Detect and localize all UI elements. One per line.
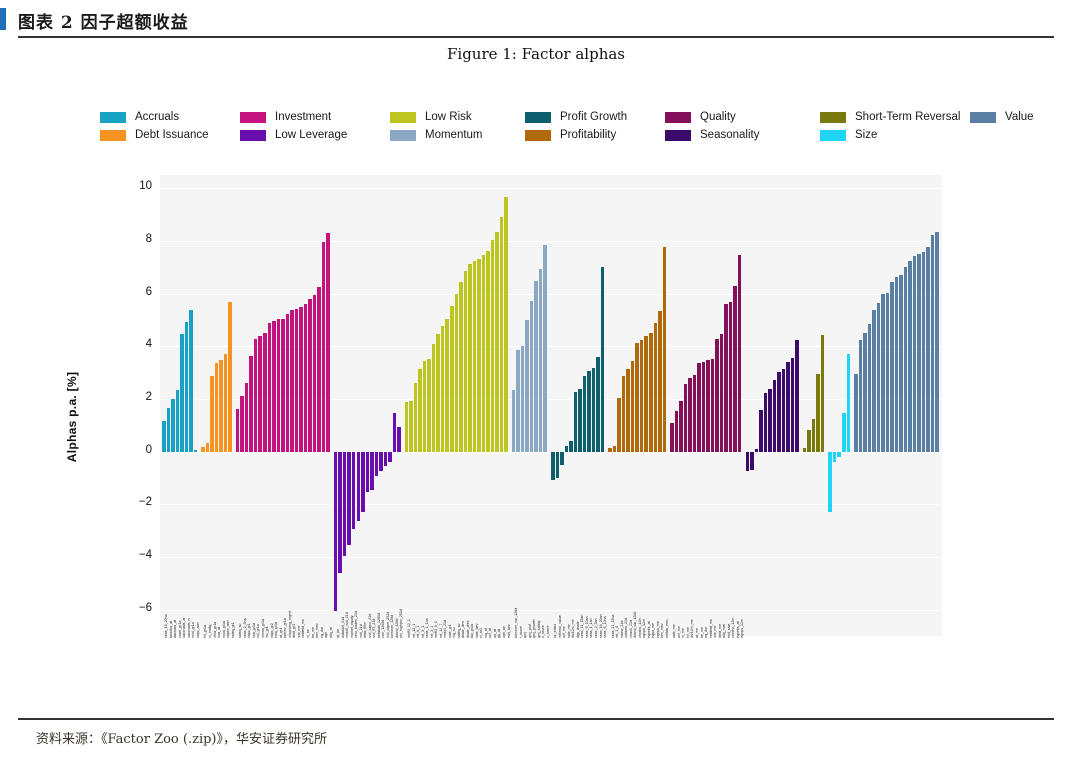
bar: [733, 286, 737, 451]
bar: [236, 409, 240, 452]
legend-swatch-icon: [240, 112, 266, 123]
gridline: [160, 610, 942, 611]
legend-row-bottom: Debt IssuanceLow LeverageMomentumProfita…: [100, 126, 1000, 144]
bar: [432, 344, 436, 451]
x-axis-tick-label: netdebt_me: [709, 619, 713, 638]
report-title: 图表 2 因子超额收益: [18, 8, 189, 33]
x-axis-tick-label: ni_ar1: [479, 628, 483, 638]
bar: [254, 339, 258, 452]
x-axis-tick-label: ocf_me: [562, 626, 566, 638]
x-axis-tick-label: bev_mev: [315, 623, 319, 638]
bar: [521, 346, 525, 452]
bar: [816, 374, 820, 452]
bar: [171, 399, 175, 451]
bar: [715, 339, 719, 452]
x-axis-tick-label: noa_at: [217, 627, 221, 638]
x-axis-tick-label: dolvol_var_126d: [633, 612, 637, 638]
bar: [922, 252, 926, 452]
y-axis-tick-label: 10: [112, 180, 152, 192]
bar: [491, 240, 495, 452]
bar: [445, 319, 449, 452]
x-axis-tick-label: kz_index: [553, 624, 557, 638]
gridline: [160, 294, 942, 295]
bar: [872, 310, 876, 452]
bar: [782, 369, 786, 451]
x-axis-tick-label: seas_16_20an: [599, 614, 603, 638]
x-axis-tick-label: zero_trades_21d: [354, 611, 358, 638]
bar: [516, 350, 520, 451]
bar: [917, 254, 921, 452]
legend-item-label: Short-Term Reversal: [855, 111, 960, 123]
legend-item-profitability[interactable]: Profitability: [525, 126, 616, 144]
bar: [596, 357, 600, 451]
bar: [697, 363, 701, 452]
bar: [176, 390, 180, 452]
bar: [622, 376, 626, 452]
bar: [886, 293, 890, 452]
x-axis-tick-label: beta_60m: [363, 622, 367, 638]
bar: [658, 311, 662, 451]
bar: [441, 326, 445, 452]
y-axis-label: Alphas p.a. [%]: [65, 337, 79, 497]
x-axis-tick-label: netdebt_me: [301, 619, 305, 638]
x-axis-tick-label: eq_dur: [704, 627, 708, 638]
bar: [863, 333, 867, 452]
x-axis-tick-label: tax_gr1a: [470, 624, 474, 638]
bar: [313, 295, 317, 452]
bar: [777, 372, 781, 452]
bar: [859, 340, 863, 451]
bar: [759, 410, 763, 452]
legend-item-value[interactable]: Value: [970, 108, 1034, 126]
bar: [913, 256, 917, 451]
legend-item-label: Seasonality: [700, 129, 759, 141]
bar: [768, 389, 772, 452]
bar: [162, 421, 166, 451]
bar: [626, 369, 630, 451]
x-axis-tick-label: eqnpo_12m: [740, 619, 744, 638]
bar: [812, 419, 816, 452]
bar: [352, 452, 356, 529]
bar: [592, 368, 596, 452]
x-axis-tick-label: ocf_at: [488, 628, 492, 638]
bar: [750, 452, 754, 470]
bar: [539, 269, 543, 452]
x-axis-tick-label: seas_6_10na: [603, 616, 607, 638]
x-axis-tick-label: nfna_gr1a: [213, 622, 217, 638]
bar: [525, 320, 529, 451]
legend-swatch-icon: [665, 112, 691, 123]
bar: [684, 384, 688, 451]
legend-row-top: AccrualsInvestmentLow RiskProfit GrowthQ…: [100, 108, 1000, 126]
legend-swatch-icon: [525, 112, 551, 123]
bar: [854, 374, 858, 452]
bar: [693, 375, 697, 452]
x-axis-tick-label: z_score: [546, 625, 550, 638]
bar: [427, 359, 431, 452]
bar: [755, 449, 759, 451]
bar: [706, 360, 710, 452]
bar: [263, 333, 267, 452]
bar: [729, 302, 733, 452]
bar: [361, 452, 365, 512]
x-axis-tick-label: eq_dur: [320, 627, 324, 638]
bar: [679, 401, 683, 452]
x-axis-tick-label: debt_me: [718, 624, 722, 638]
x-axis-tick-label: turnover_126d: [390, 615, 394, 638]
bar: [583, 376, 587, 452]
bar: [338, 452, 342, 574]
bar: [574, 392, 578, 451]
x-axis-tick-label: f_score: [519, 626, 523, 638]
bar: [240, 396, 244, 452]
bar: [418, 369, 422, 451]
bar: [644, 336, 648, 451]
y-axis-tick-label: 6: [112, 286, 152, 298]
bar: [649, 333, 653, 452]
bar: [551, 452, 555, 480]
x-axis-tick-label: qmj_growth: [532, 619, 536, 638]
bar: [587, 371, 591, 451]
chart-container: Alphas p.a. [%] −6−4−20246810 seas_16_20…: [0, 160, 1072, 660]
x-axis-tick-label: be_me: [311, 627, 315, 638]
bar: [565, 446, 569, 452]
report-header: 图表 2 因子超额收益: [0, 0, 1072, 42]
x-axis-tick-label: at_me: [695, 628, 699, 638]
bar: [436, 334, 440, 451]
bar: [556, 452, 560, 479]
x-axis-tick-label: ival_me: [713, 626, 717, 638]
bar: [393, 413, 397, 451]
x-axis-tick-label: ni_be: [306, 629, 310, 638]
bar: [414, 383, 418, 451]
bar: [904, 267, 908, 452]
x-axis-tick-label: turnover_var_126d: [514, 608, 518, 638]
bar: [379, 452, 383, 471]
bar: [702, 362, 706, 452]
x-axis-tick-label: ret_12_1: [412, 624, 416, 638]
bar: [249, 356, 253, 451]
y-axis-tick-label: 8: [112, 233, 152, 245]
bar: [343, 452, 347, 556]
bar: [807, 430, 811, 452]
bar: [543, 245, 547, 452]
bar: [473, 261, 477, 451]
bar: [724, 304, 728, 452]
legend-item-label: Quality: [700, 111, 736, 123]
x-axis-tick-label: rmax5_rvol_21d: [345, 612, 349, 638]
bar: [899, 275, 903, 452]
legend-item-label: Size: [855, 129, 877, 141]
bar: [185, 322, 189, 452]
x-axis-tick-label: be_me: [700, 627, 704, 638]
x-axis-tick-label: debt_gr3: [292, 624, 296, 638]
bar: [366, 452, 370, 492]
bar: [375, 452, 379, 476]
bar: [388, 452, 392, 462]
x-axis-tick-label: resff3_6_1: [434, 621, 438, 638]
bar: [640, 340, 644, 451]
bar: [486, 251, 490, 452]
bar: [201, 447, 205, 452]
x-axis-tick-label: lnoa_gr1a: [274, 622, 278, 638]
bar: [326, 233, 330, 451]
legend-swatch-icon: [820, 112, 846, 123]
x-axis-tick-label: ebitda_mev: [665, 619, 669, 638]
legend-item-label: Low Leverage: [275, 129, 347, 141]
bar: [299, 307, 303, 451]
x-axis-tick-label: coskew_21d: [624, 618, 628, 638]
bar: [617, 398, 621, 452]
x-axis-tick-label: eqnpo_12m: [642, 619, 646, 638]
bar: [277, 319, 281, 451]
bar: [347, 452, 351, 546]
bar: [224, 354, 228, 452]
x-axis-tick-label: ni_inc8q: [208, 625, 212, 638]
bar: [423, 361, 427, 452]
x-axis-tick-label: resff3_12_1: [407, 619, 411, 638]
bar: [495, 232, 499, 451]
x-axis-tick-label: div12m_me: [690, 619, 694, 638]
x-axis-tick-label: qmj: [523, 632, 527, 638]
bar: [786, 362, 790, 452]
x-axis-tick-label: seas_1_1na: [425, 618, 429, 638]
bar: [189, 310, 193, 452]
bar: [468, 264, 472, 452]
bar: [926, 247, 930, 451]
bar: [890, 282, 894, 452]
x-axis-tick-label: bev_mev: [660, 623, 664, 638]
x-axis-tick-label: aliq_at: [329, 627, 333, 638]
bar: [654, 323, 658, 452]
bar: [833, 452, 837, 462]
bar: [908, 261, 912, 452]
bar: [738, 255, 742, 451]
x-axis-tick-label: inv_gr1: [265, 626, 269, 638]
x-axis-tick-label: seas_1_1an: [589, 618, 593, 638]
legend-swatch-icon: [100, 112, 126, 123]
legend-item-low-leverage[interactable]: Low Leverage: [240, 126, 347, 144]
legend-swatch-icon: [240, 130, 266, 141]
y-axis-tick-label: −6: [112, 602, 152, 614]
bar: [384, 452, 388, 466]
footer-divider: [18, 718, 1054, 720]
legend-item-label: Value: [1005, 111, 1034, 123]
bar: [764, 393, 768, 451]
x-axis-tick-label: aliq_mat: [722, 624, 726, 638]
bar: [828, 452, 832, 512]
x-axis-tick-label: capex_abn: [226, 620, 230, 638]
bar: [631, 361, 635, 452]
x-axis-tick-label: seas_11_15an: [580, 615, 584, 638]
bar: [194, 450, 198, 452]
legend-item-short-term-reversal[interactable]: Short-Term Reversal: [820, 108, 960, 126]
x-axis-tick-label: dacccbs_at: [173, 620, 177, 638]
y-axis-tick-label: −2: [112, 496, 152, 508]
x-axis-tick-label: o_score: [541, 625, 545, 638]
x-axis-tick-label: seas_11_15na: [611, 615, 615, 638]
bar: [803, 448, 807, 451]
bar: [512, 390, 516, 452]
legend-swatch-icon: [525, 130, 551, 141]
bar: [482, 255, 486, 452]
x-axis-tick-label: niq_su: [452, 627, 456, 638]
x-axis-tick-label: ncoa_gr1a: [222, 621, 226, 638]
x-axis-tick-label: div12m_me: [571, 619, 575, 638]
x-axis-tick-labels: seas_16_20natacccbs_atdacccbs_atcowc_gr1…: [160, 638, 942, 718]
gridline: [160, 188, 942, 189]
bar: [268, 323, 272, 452]
legend-item-low-risk[interactable]: Low Risk: [390, 108, 472, 126]
x-axis-tick-label: chcsho_12m: [731, 618, 735, 638]
bar: [935, 232, 939, 451]
bar: [167, 408, 171, 451]
x-axis-tick-label: at_be: [336, 629, 340, 638]
bar: [245, 383, 249, 452]
legend-item-label: Investment: [275, 111, 331, 123]
legend-item-size[interactable]: Size: [820, 126, 877, 144]
y-axis-tick-label: −4: [112, 549, 152, 561]
figure-caption: Figure 1: Factor alphas: [0, 45, 1072, 63]
plot-area: [160, 175, 942, 636]
bar: [560, 452, 564, 466]
x-axis-tick-label: corr_1260d: [381, 620, 385, 638]
x-axis-tick-label: rmax1_21d: [443, 620, 447, 638]
header-accent-bar: [0, 8, 6, 30]
x-axis-tick-label: age: [324, 632, 328, 638]
legend-item-label: Accruals: [135, 111, 179, 123]
legend-item-label: Profit Growth: [560, 111, 627, 123]
bar: [450, 306, 454, 451]
y-axis-tick-label: 0: [112, 444, 152, 456]
legend-swatch-icon: [100, 130, 126, 141]
bar: [459, 282, 463, 452]
legend-item-investment[interactable]: Investment: [240, 108, 331, 126]
header-divider: [18, 36, 1054, 38]
x-axis-tick-label: eqpo_me: [651, 623, 655, 638]
bar: [795, 340, 799, 452]
bar: [206, 443, 210, 451]
bar: [317, 287, 321, 452]
bar: [272, 321, 276, 451]
x-axis-tick-label: rskew_21d: [620, 621, 624, 638]
bar: [534, 281, 538, 452]
bar: [569, 441, 573, 452]
bar: [290, 310, 294, 452]
legend-item-label: Low Risk: [425, 111, 472, 123]
x-axis-tick-label: ret_6_1: [416, 626, 420, 638]
legend-swatch-icon: [820, 130, 846, 141]
x-axis-tick-label: dsale_dinv: [461, 621, 465, 638]
legend-item-quality[interactable]: Quality: [665, 108, 736, 126]
bar: [837, 452, 841, 458]
bar: [601, 267, 605, 451]
bar: [180, 334, 184, 451]
bar: [477, 259, 481, 452]
bar: [670, 423, 674, 451]
bar: [881, 294, 885, 452]
legend-swatch-icon: [970, 112, 996, 123]
bar: [370, 452, 374, 490]
chart-legend: AccrualsInvestmentLow RiskProfit GrowthQ…: [100, 108, 1000, 148]
bar: [868, 324, 872, 452]
bar: [334, 452, 338, 611]
legend-item-momentum[interactable]: Momentum: [390, 126, 483, 144]
bar: [464, 271, 468, 451]
bar: [397, 427, 401, 451]
bar: [720, 334, 724, 451]
x-axis-tick-label: fnl_gr1a: [203, 625, 207, 638]
bar: [578, 389, 582, 452]
x-axis-tick-label: gp_at: [497, 629, 501, 638]
bar: [504, 197, 508, 451]
legend-swatch-icon: [665, 130, 691, 141]
x-axis-tick-label: seas_16_20na: [164, 614, 168, 638]
x-axis-tick-label: saleq_su: [238, 624, 242, 638]
legend-item-accruals[interactable]: Accruals: [100, 108, 179, 126]
bar: [711, 359, 715, 452]
bar: [663, 247, 667, 452]
bar: [286, 314, 290, 452]
x-axis-tick-label: ncol_gr1a: [191, 622, 195, 638]
legend-item-seasonality[interactable]: Seasonality: [665, 126, 759, 144]
gridline: [160, 557, 942, 558]
bar: [228, 302, 232, 452]
bar: [842, 413, 846, 452]
legend-item-label: Momentum: [425, 129, 483, 141]
bar: [895, 277, 899, 451]
bar: [791, 358, 795, 452]
x-axis-tick-label: seas_2_5an: [594, 618, 598, 638]
bar: [608, 448, 612, 451]
x-axis-tick-label: capx_abn: [196, 622, 200, 638]
x-axis-tick-label: col_gr1a: [256, 624, 260, 638]
y-axis-tick-label: 2: [112, 391, 152, 403]
legend-swatch-icon: [390, 112, 416, 123]
x-axis-tick-label: capx_gr1: [247, 623, 251, 638]
legend-item-profit-growth[interactable]: Profit Growth: [525, 108, 627, 126]
bar: [357, 452, 361, 521]
x-axis-tick-label: saleq_gr1: [231, 622, 235, 638]
legend-item-debt-issuance[interactable]: Debt Issuance: [100, 126, 209, 144]
x-axis-tick-label: ret_1_0: [615, 626, 619, 638]
y-axis-tick-label: 4: [112, 338, 152, 350]
bar: [773, 380, 777, 452]
x-axis-tick-label: sale_me: [672, 624, 676, 638]
bar: [409, 401, 413, 452]
x-axis-tick-label: ret_9_1: [421, 626, 425, 638]
legend-item-label: Profitability: [560, 129, 616, 141]
x-axis-tick-label: ope_be: [502, 626, 506, 638]
bar: [500, 217, 504, 452]
bar: [405, 402, 409, 452]
bar: [877, 303, 881, 452]
bar: [455, 294, 459, 452]
bar: [931, 235, 935, 452]
gridline: [160, 504, 942, 505]
bar: [635, 343, 639, 452]
bar: [821, 335, 825, 451]
x-axis-tick-label: ivol_ff3_21d: [372, 619, 376, 638]
bar: [219, 360, 223, 452]
x-axis-tick-label: prc_highprc_252d: [399, 609, 403, 638]
bar: [688, 378, 692, 451]
bar: [322, 242, 326, 451]
bar: [215, 363, 219, 451]
bar: [295, 309, 299, 452]
bar: [613, 446, 617, 452]
bar: [258, 336, 262, 451]
